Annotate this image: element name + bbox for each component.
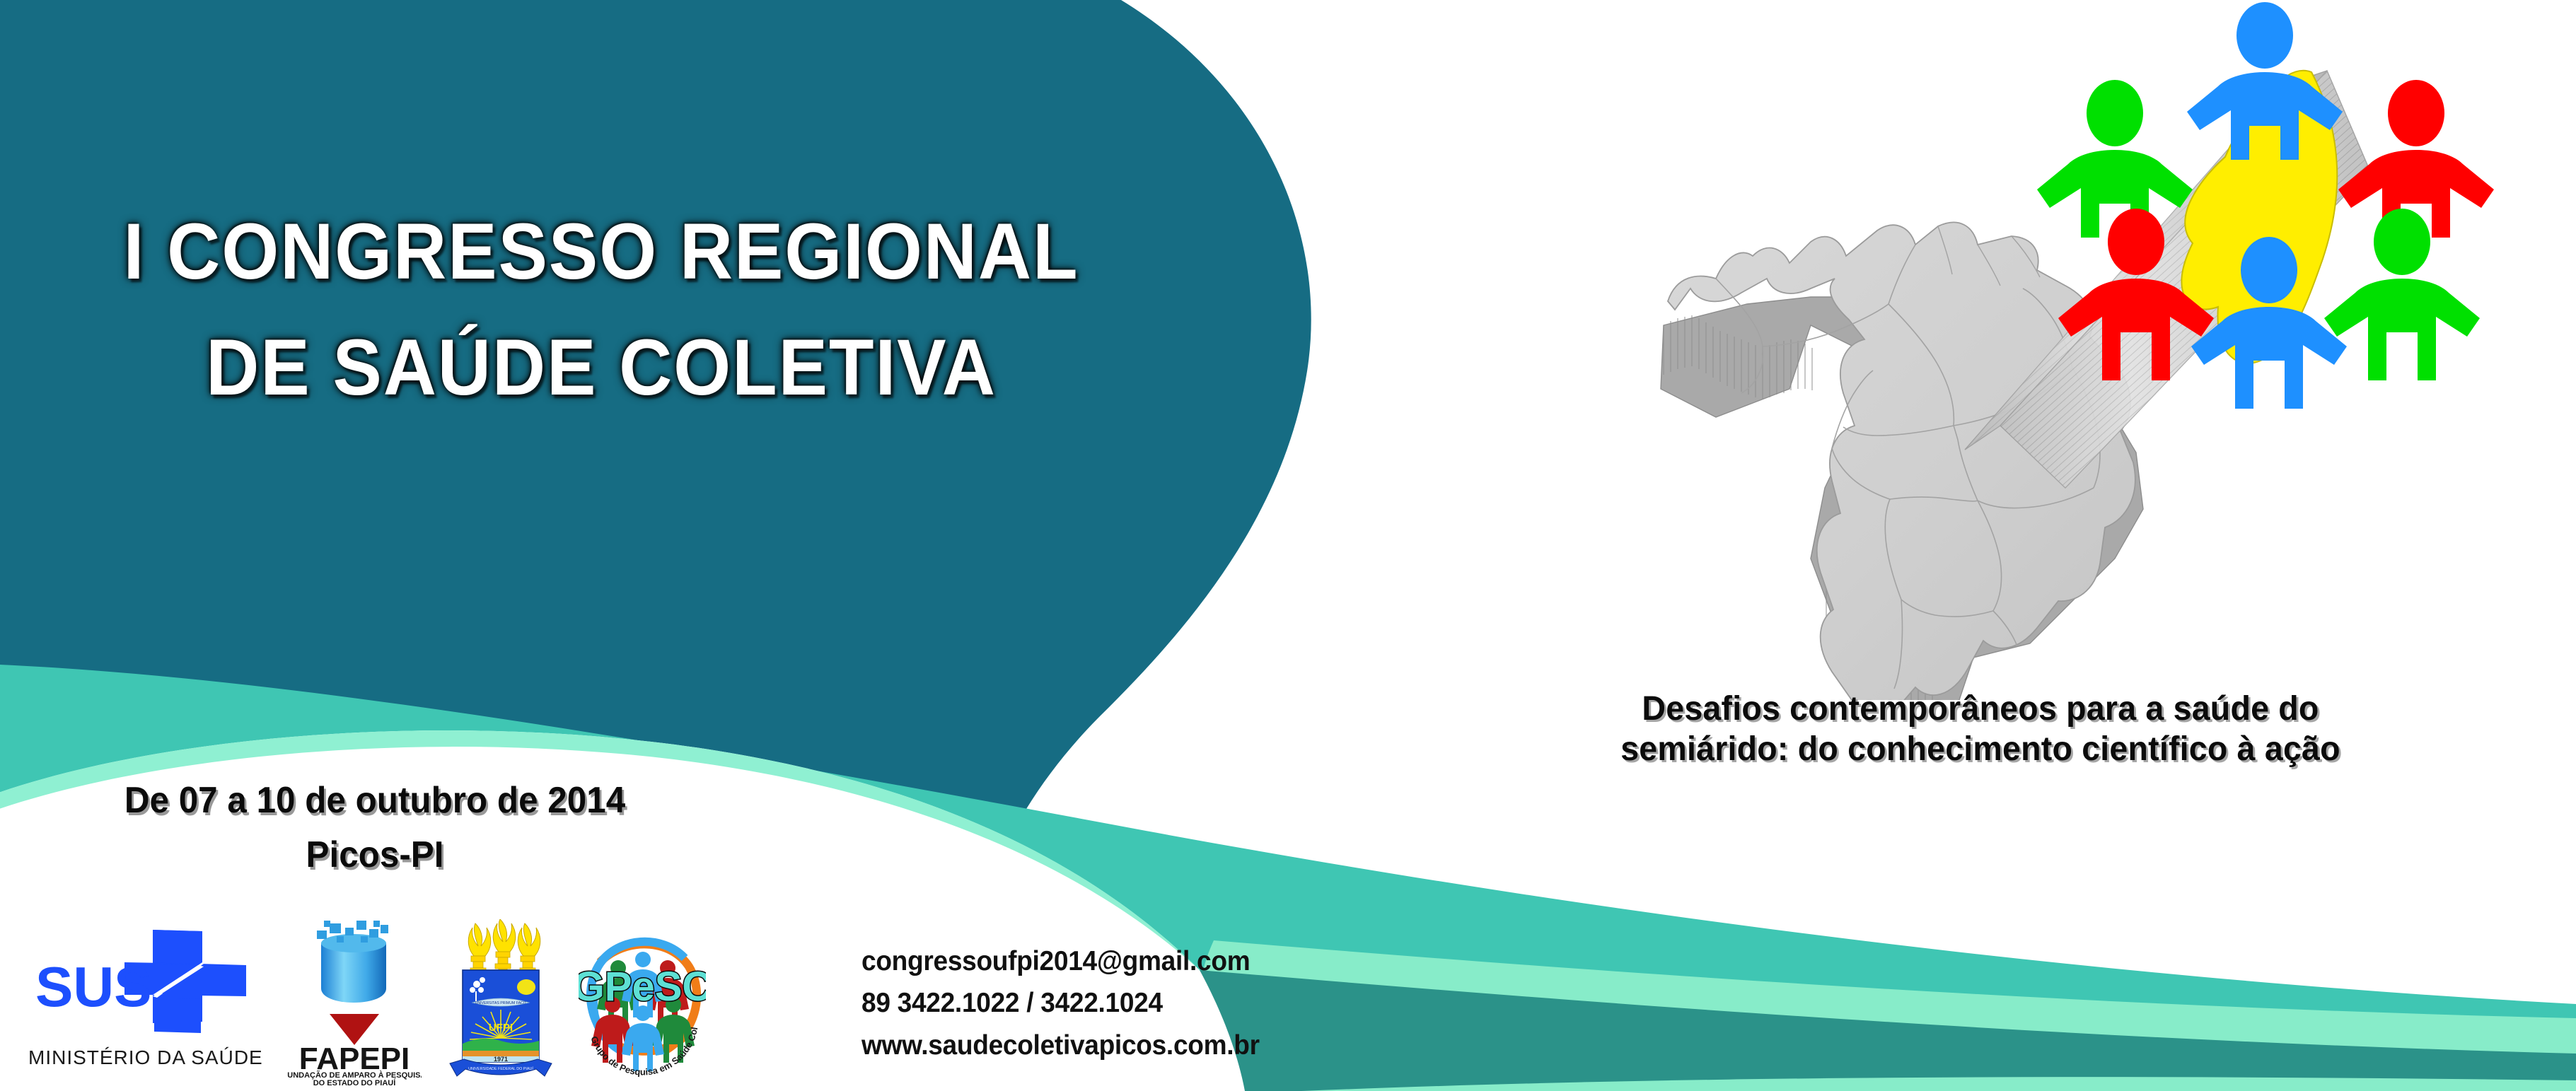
ufpi-crest-logo: UNIVERSITAS PRIMUM FACIT UFPI	[447, 919, 553, 1085]
gpesc-wordmark: GPeSC	[579, 964, 706, 1010]
date-block: De 07 a 10 de outubro de 2014 Picos-PI	[0, 781, 750, 874]
fapepi-subtitle-2: DO ESTADO DO PIAUÍ	[313, 1078, 396, 1085]
sus-cross-logo: SUS MINISTÉRIO DA SAÚDE	[28, 930, 262, 1085]
person-lower-right-green	[2324, 209, 2480, 380]
event-graphic	[1577, 0, 2576, 700]
fapepi-cylinder-logo: FAPEPI FUNDAÇÃO DE AMPARO À PESQUISA DO …	[287, 919, 422, 1085]
ufpi-ribbon-text: UNIVERSIDADE FEDERAL DO PIAUÍ	[468, 1066, 533, 1071]
page-title-line-2: DE SAÚDE COLETIVA	[42, 328, 1161, 407]
sponsor-logo-ufpi: UNIVERSITAS PRIMUM FACIT UFPI	[447, 919, 553, 1085]
contact-phones: 89 3422.1022 / 3422.1024	[861, 982, 1500, 1024]
event-city: Picos-PI	[19, 836, 731, 875]
ufpi-wordmark: UFPI	[489, 1022, 513, 1034]
tagline-block: Desafios contemporâneos para a saúde do …	[1485, 689, 2476, 769]
sponsor-logo-strip: SUS MINISTÉRIO DA SAÚDE	[28, 909, 778, 1085]
contact-website[interactable]: www.saudecoletivapicos.com.br	[861, 1025, 1500, 1066]
contact-email[interactable]: congressoufpi2014@gmail.com	[861, 940, 1500, 982]
sponsor-logo-sus: SUS MINISTÉRIO DA SAÚDE	[28, 930, 262, 1085]
ufpi-motto: UNIVERSITAS PRIMUM FACIT	[475, 1001, 528, 1005]
ufpi-cashew-icon	[517, 979, 535, 995]
tagline-line-1: Desafios contemporâneos para a saúde do	[1500, 689, 2461, 730]
ufpi-shield: UNIVERSITAS PRIMUM FACIT UFPI	[463, 970, 539, 1063]
sus-subtitle: MINISTÉRIO DA SAÚDE	[28, 1046, 262, 1068]
contact-block: congressoufpi2014@gmail.com 89 3422.1022…	[861, 940, 1533, 1066]
fapepi-cylinder-icon	[317, 921, 388, 1003]
ufpi-year: 1971	[494, 1056, 508, 1063]
event-dates: De 07 a 10 de outubro de 2014	[19, 781, 731, 820]
fapepi-arrow-icon	[330, 1014, 379, 1045]
gpesc-circle-logo: GPeSC Grupo de Pesquisa em Saúde Coletiv…	[579, 923, 706, 1085]
tagline-line-2: semiárido: do conhecimento científico à …	[1500, 730, 2461, 770]
person-upper-left-green	[2037, 80, 2193, 238]
event-banner: I CONGRESSO REGIONAL DE SAÚDE COLETIVA	[0, 0, 2576, 1091]
sponsor-logo-gpesc: GPeSC Grupo de Pesquisa em Saúde Coletiv…	[579, 923, 706, 1085]
sus-wordmark: SUS	[35, 955, 152, 1018]
page-title-line-1: I CONGRESSO REGIONAL	[42, 212, 1161, 291]
title-block: I CONGRESSO REGIONAL DE SAÚDE COLETIVA	[0, 212, 1202, 407]
sponsor-logo-fapepi: FAPEPI FUNDAÇÃO DE AMPARO À PESQUISA DO …	[287, 919, 422, 1085]
